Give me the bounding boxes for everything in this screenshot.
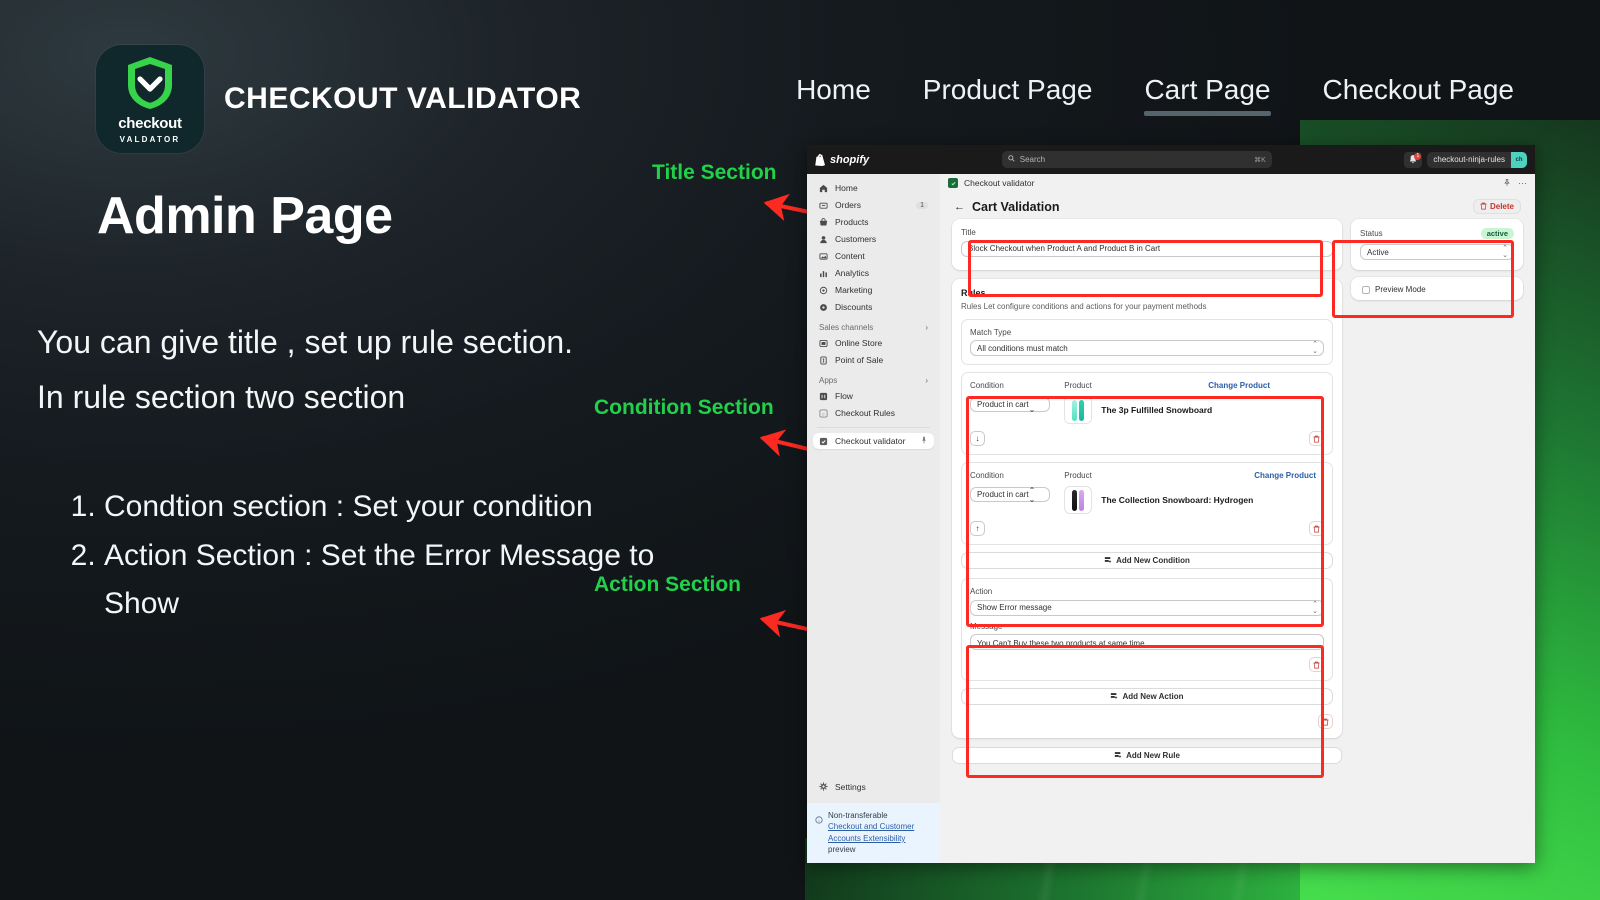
right-column: Status active Active ⌃⌄ Preview Mode (1351, 219, 1523, 309)
sidebar-item-checkout-rules[interactable]: c Checkout Rules (813, 405, 934, 421)
condition-type-value: Product in cart (977, 400, 1029, 409)
shopify-bag-icon (815, 154, 826, 166)
add-icon (1110, 692, 1118, 702)
sidebar-item-label: Online Store (835, 338, 882, 348)
match-type-label: Match Type (970, 328, 1324, 337)
sidebar-item-label: Checkout validator (835, 436, 905, 446)
add-new-action-label: Add New Action (1122, 692, 1183, 701)
sidebar-item-settings[interactable]: Settings (813, 779, 934, 795)
search-shortcut: ⌘K (1254, 156, 1266, 164)
add-icon (1104, 556, 1112, 566)
status-badge: active (1481, 228, 1514, 239)
sidebar-item-label: Flow (835, 391, 853, 401)
sidebar-item-label: Settings (835, 782, 866, 792)
trash-icon[interactable] (1318, 714, 1333, 729)
back-arrow-icon[interactable]: ← (954, 201, 965, 213)
product-name: The 3p Fulfilled Snowboard (1101, 405, 1212, 415)
checkout-rules-icon: c (819, 409, 828, 418)
customers-icon (819, 235, 828, 244)
sidebar-item-label: Home (835, 183, 858, 193)
sidebar-item-label: Orders (835, 200, 861, 210)
online-store-icon (819, 339, 828, 348)
avatar[interactable]: ch (1511, 152, 1527, 168)
page-title: Admin Page (97, 186, 393, 246)
note-suffix: preview (828, 845, 856, 854)
shield-check-icon (124, 55, 176, 111)
slide-bullet-list: Condtion section : Set your condition Ac… (62, 483, 662, 629)
chevron-updown-icon: ⌃⌄ (1029, 486, 1036, 504)
sidebar-group-apps[interactable]: Apps › (813, 369, 934, 388)
rules-card: Rules Rules Let configure conditions and… (952, 279, 1342, 739)
product-name: The Collection Snowboard: Hydrogen (1101, 495, 1253, 505)
chevron-updown-icon: ⌃⌄ (1312, 601, 1318, 615)
sidebar-item-label: Marketing (835, 285, 872, 295)
logo-line2: VALDATOR (120, 136, 181, 144)
search-placeholder: Search (1020, 155, 1045, 164)
product-image-right (1079, 490, 1084, 511)
sidebar-group-label: Apps (819, 376, 837, 385)
sidebar-item-label: Analytics (835, 268, 869, 278)
title-input[interactable]: Block Checkout when Product A and Produc… (961, 241, 1333, 257)
sidebar-item-discounts[interactable]: Discounts (813, 299, 934, 315)
chevron-updown-icon: ⌃⌄ (1502, 245, 1508, 259)
condition-row-2: Condition Product in cart ⌃⌄ Product (961, 462, 1333, 545)
store-name[interactable]: checkout-ninja-rules (1427, 152, 1511, 168)
condition-type-select[interactable]: Product in cart ⌃⌄ (970, 487, 1050, 502)
condition-row-1: Condition Product in cart ⌃⌄ Product (961, 372, 1333, 455)
sidebar-item-label: Products (835, 217, 869, 227)
add-new-condition-button[interactable]: Add New Condition (961, 552, 1333, 569)
annotation-condition-section: Condition Section (594, 396, 774, 420)
arrow-up-icon[interactable]: ↑ (970, 521, 985, 536)
ellipsis-icon[interactable]: ··· (1518, 178, 1527, 189)
message-label: Message (970, 622, 1324, 631)
sidebar-item-marketing[interactable]: Marketing (813, 282, 934, 298)
search-input[interactable]: Search ⌘K (1002, 151, 1272, 168)
sidebar-item-products[interactable]: Products (813, 214, 934, 230)
note-title: Non-transferable (828, 811, 888, 820)
marketing-icon (819, 286, 828, 295)
brand-title: CHECKOUT VALIDATOR (224, 82, 581, 116)
brand-lockup: checkout VALDATOR CHECKOUT VALIDATOR (96, 45, 581, 153)
message-input[interactable]: You Can't Buy these two products at same… (970, 634, 1324, 650)
sidebar-item-label: Checkout Rules (835, 408, 895, 418)
orders-icon (819, 201, 828, 210)
app-logo: checkout VALDATOR (96, 45, 204, 153)
chevron-right-icon: › (925, 323, 928, 332)
rules-heading: Rules (961, 288, 1333, 298)
shopify-logo: shopify (815, 154, 869, 166)
preview-mode-label: Preview Mode (1375, 285, 1426, 294)
action-block: Action Show Error message ⌃⌄ Message You… (961, 578, 1333, 681)
pin-icon[interactable] (920, 436, 928, 446)
change-product-link[interactable]: Change Product (1208, 381, 1270, 390)
add-new-rule-label: Add New Rule (1126, 751, 1180, 760)
title-card: Title Block Checkout when Product A and … (952, 219, 1342, 270)
sidebar-group-label: Sales channels (819, 323, 873, 332)
sidebar-item-content[interactable]: Content (813, 248, 934, 264)
divider (817, 427, 930, 428)
match-type-value: All conditions must match (977, 344, 1068, 353)
match-type-select[interactable]: All conditions must match ⌃⌄ (970, 340, 1324, 356)
preview-mode-row[interactable]: Preview Mode (1360, 283, 1514, 294)
page-title: Cart Validation (972, 200, 1060, 214)
chevron-updown-icon: ⌃⌄ (1312, 341, 1318, 355)
nav-item-checkout-page[interactable]: Checkout Page (1323, 74, 1514, 116)
product-thumbnail (1064, 486, 1092, 514)
sidebar-item-label: Customers (835, 234, 876, 244)
annotation-title-section: Title Section (652, 161, 776, 185)
change-product-link[interactable]: Change Product (1254, 471, 1316, 480)
product-image-left (1072, 490, 1077, 511)
chevron-updown-icon: ⌃⌄ (1029, 396, 1036, 414)
sidebar-preview-note: i Non-transferable Checkout and Customer… (807, 803, 940, 863)
notification-badge: 1 (1414, 153, 1421, 160)
trash-icon (1480, 202, 1487, 212)
main-content: Checkout validator ··· ← Cart Validation… (940, 174, 1535, 863)
status-label: Status (1360, 229, 1383, 238)
slide-lead-text: You can give title , set up rule section… (37, 315, 597, 425)
sidebar-item-online-store[interactable]: Online Store (813, 335, 934, 351)
sidebar-item-analytics[interactable]: Analytics (813, 265, 934, 281)
product-label: Product (1064, 381, 1092, 390)
nav-item-product-page[interactable]: Product Page (923, 74, 1093, 116)
shopify-wordmark: shopify (830, 154, 869, 166)
product-label: Product (1064, 471, 1092, 480)
rules-subtitle: Rules Let configure conditions and actio… (961, 302, 1333, 311)
svg-text:i: i (818, 817, 820, 822)
pin-icon[interactable] (1503, 178, 1511, 189)
product-image-right (1079, 400, 1084, 421)
nav-item-home[interactable]: Home (796, 74, 871, 116)
checkout-validator-icon (819, 437, 828, 446)
sidebar-item-point-of-sale[interactable]: Point of Sale (813, 352, 934, 368)
sidebar-item-label: Discounts (835, 302, 872, 312)
annotation-action-section: Action Section (594, 573, 741, 597)
shopify-body: Home Orders 1 Products Customers (807, 174, 1535, 863)
list-item: Condtion section : Set your condition (104, 483, 662, 530)
sidebar: Home Orders 1 Products Customers (807, 174, 940, 863)
trash-icon[interactable] (1309, 431, 1324, 446)
delete-label: Delete (1490, 202, 1514, 211)
delete-button[interactable]: Delete (1473, 199, 1521, 214)
add-icon (1114, 751, 1122, 761)
svg-text:c: c (822, 411, 825, 416)
condition-label: Condition (970, 471, 1050, 480)
condition-type-value: Product in cart (977, 490, 1029, 499)
trash-icon[interactable] (1309, 521, 1324, 536)
product-image-left (1072, 400, 1077, 421)
action-value: Show Error message (977, 603, 1052, 612)
info-icon: i (815, 811, 823, 856)
action-select[interactable]: Show Error message ⌃⌄ (970, 600, 1324, 616)
orders-badge: 1 (916, 202, 928, 209)
status-select[interactable]: Active ⌃⌄ (1360, 244, 1514, 260)
page-header: ← Cart Validation Delete (940, 192, 1535, 219)
add-new-action-button[interactable]: Add New Action (961, 688, 1333, 705)
rule-delete-row (961, 714, 1333, 729)
top-navigation: Home Product Page Cart Page Checkout Pag… (796, 74, 1514, 116)
chevron-right-icon: › (925, 376, 928, 385)
content-columns: Title Block Checkout when Product A and … (940, 219, 1535, 774)
shopify-topbar: shopify Search ⌘K 1 checkout-ninja-rules… (807, 145, 1535, 174)
arrow-down-icon[interactable]: ↓ (970, 431, 985, 446)
sidebar-item-orders[interactable]: Orders 1 (813, 197, 934, 213)
flow-icon (819, 392, 828, 401)
discounts-icon (819, 303, 828, 312)
add-new-rule-button[interactable]: Add New Rule (952, 747, 1342, 764)
status-select-value: Active (1367, 248, 1389, 257)
sidebar-item-home[interactable]: Home (813, 180, 934, 196)
sidebar-item-customers[interactable]: Customers (813, 231, 934, 247)
products-icon (819, 218, 828, 227)
note-link[interactable]: Checkout and Customer Accounts Extensibi… (828, 822, 914, 843)
condition-type-select[interactable]: Product in cart ⌃⌄ (970, 397, 1050, 412)
analytics-icon (819, 269, 828, 278)
preview-mode-checkbox[interactable] (1362, 286, 1370, 294)
sidebar-item-checkout-validator[interactable]: Checkout validator (813, 433, 934, 449)
shopify-admin-screenshot: shopify Search ⌘K 1 checkout-ninja-rules… (807, 145, 1535, 863)
notifications-button[interactable]: 1 (1404, 152, 1422, 168)
app-bar-title: Checkout validator (964, 178, 1034, 188)
sidebar-item-label: Point of Sale (835, 355, 883, 365)
content-icon (819, 252, 828, 261)
product-thumbnail (1064, 396, 1092, 424)
preview-mode-card: Preview Mode (1351, 277, 1523, 300)
sidebar-item-label: Content (835, 251, 865, 261)
left-column: Title Block Checkout when Product A and … (952, 219, 1342, 774)
logo-line1: checkout (118, 116, 181, 131)
status-card: Status active Active ⌃⌄ (1351, 219, 1523, 270)
add-new-condition-label: Add New Condition (1116, 556, 1190, 565)
checkout-validator-icon (948, 178, 958, 188)
trash-icon[interactable] (1309, 657, 1324, 672)
topbar-right: 1 checkout-ninja-rules ch (1404, 152, 1527, 168)
gear-icon (819, 782, 828, 791)
title-field-label: Title (961, 228, 1333, 237)
home-icon (819, 184, 828, 193)
list-item: Action Section : Set the Error Message t… (104, 532, 662, 627)
action-label: Action (970, 587, 1324, 596)
sidebar-item-flow[interactable]: Flow (813, 388, 934, 404)
app-bar: Checkout validator ··· (940, 174, 1535, 192)
point-of-sale-icon (819, 356, 828, 365)
match-type-block: Match Type All conditions must match ⌃⌄ (961, 319, 1333, 366)
search-icon (1008, 155, 1015, 164)
sidebar-group-sales-channels[interactable]: Sales channels › (813, 316, 934, 335)
nav-item-cart-page[interactable]: Cart Page (1144, 74, 1270, 116)
condition-label: Condition (970, 381, 1050, 390)
